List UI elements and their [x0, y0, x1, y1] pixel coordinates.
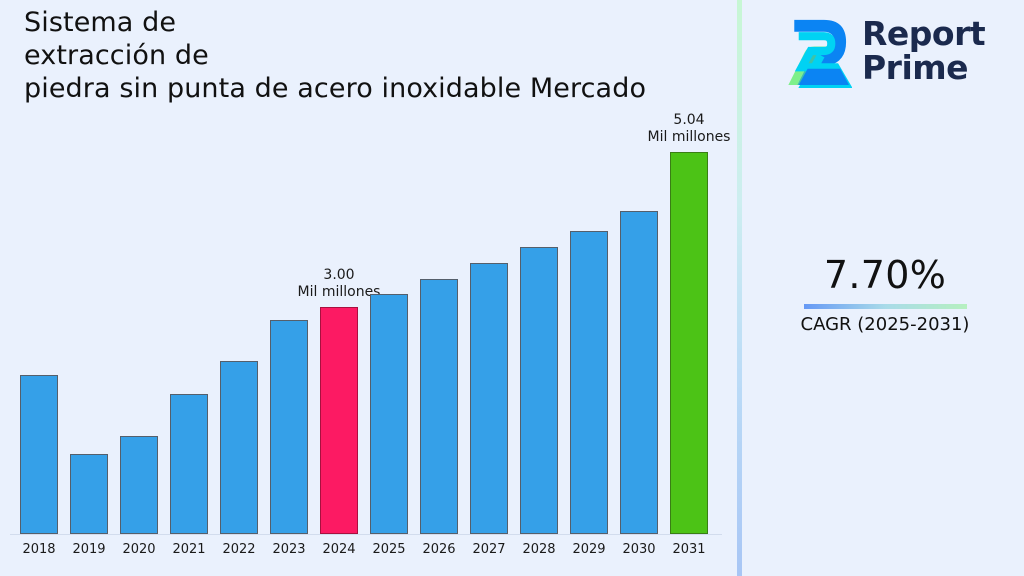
- bar-rect-2022[interactable]: [220, 361, 258, 534]
- bar-2029[interactable]: [570, 110, 608, 534]
- bar-rect-2021[interactable]: [170, 394, 208, 534]
- cagr-caption: CAGR (2025-2031): [760, 313, 1010, 337]
- bar-2020[interactable]: [120, 110, 158, 534]
- bar-value-label-2024: 3.00Mil millones: [298, 267, 381, 301]
- chart-plot-area: 3.00Mil millones5.04Mil millones: [0, 110, 737, 534]
- bar-value-2031: 5.04: [648, 112, 731, 129]
- panel-divider: [737, 0, 742, 576]
- bar-value-2024: 3.00: [298, 267, 381, 284]
- bar-2026[interactable]: [420, 110, 458, 534]
- x-axis-line: [10, 534, 722, 535]
- bar-chart: 3.00Mil millones5.04Mil millones 2018201…: [0, 110, 737, 576]
- bar-value-label-2031: 5.04Mil millones: [648, 112, 731, 146]
- bar-unit-2024: Mil millones: [298, 284, 381, 301]
- logo-line-1: Report: [862, 17, 985, 51]
- bar-2023[interactable]: [270, 110, 308, 534]
- bar-rect-2026[interactable]: [420, 279, 458, 534]
- bar-rect-2019[interactable]: [70, 454, 108, 534]
- report-prime-logo: Report Prime: [778, 8, 1006, 94]
- bar-2031[interactable]: 5.04Mil millones: [670, 110, 708, 534]
- bar-unit-2031: Mil millones: [648, 129, 731, 146]
- bar-rect-2030[interactable]: [620, 211, 658, 534]
- bar-rect-2029[interactable]: [570, 231, 608, 534]
- bar-rect-2018[interactable]: [20, 375, 58, 534]
- report-prime-logo-mark: [778, 14, 852, 88]
- bar-2025[interactable]: [370, 110, 408, 534]
- bar-2030[interactable]: [620, 110, 658, 534]
- bar-2024[interactable]: 3.00Mil millones: [320, 110, 358, 534]
- bar-rect-2028[interactable]: [520, 247, 558, 534]
- page-title: Sistema de extracción de piedra sin punt…: [24, 6, 814, 105]
- bar-2022[interactable]: [220, 110, 258, 534]
- cagr-panel: 7.70% CAGR (2025-2031): [760, 252, 1010, 337]
- cagr-value: 7.70%: [760, 252, 1010, 298]
- cagr-rule: [804, 304, 967, 309]
- bar-2021[interactable]: [170, 110, 208, 534]
- logo-line-2: Prime: [862, 51, 985, 85]
- bar-rect-2024[interactable]: [320, 307, 358, 534]
- x-tick-2031: 2031: [659, 542, 719, 557]
- bar-2027[interactable]: [470, 110, 508, 534]
- bar-rect-2020[interactable]: [120, 436, 158, 534]
- bar-2019[interactable]: [70, 110, 108, 534]
- bar-2028[interactable]: [520, 110, 558, 534]
- report-prime-logo-text: Report Prime: [862, 17, 985, 85]
- bar-rect-2027[interactable]: [470, 263, 508, 534]
- bar-rect-2023[interactable]: [270, 320, 308, 534]
- bar-2018[interactable]: [20, 110, 58, 534]
- bar-rect-2025[interactable]: [370, 294, 408, 534]
- bar-rect-2031[interactable]: [670, 152, 708, 534]
